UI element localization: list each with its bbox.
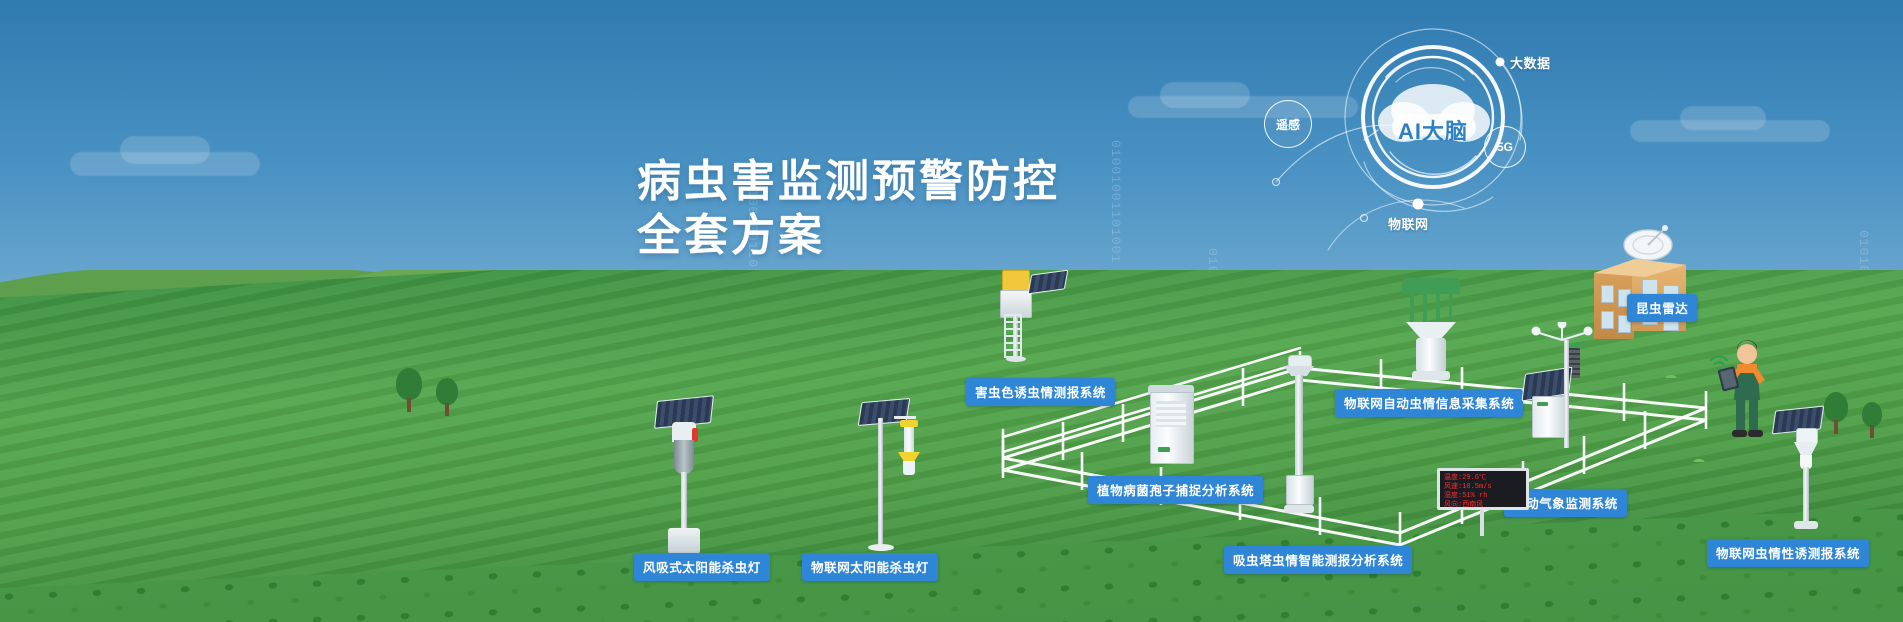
infographic-scene: 010010011010 01001001101001 010101001101… [0, 0, 1903, 622]
cloud-shape [1160, 82, 1250, 108]
cloud-shape [1680, 106, 1766, 130]
cabinet-logo [1158, 447, 1170, 452]
led-line-temperature: 温度:29.6℃ [1444, 474, 1522, 483]
device-iot-solar-lamp[interactable] [860, 400, 924, 556]
hub-node-remote-sensing-label: 遥感 [1276, 116, 1300, 133]
hub-node-5g[interactable]: 5G [1484, 126, 1526, 168]
cloud-shape [120, 136, 210, 164]
device-base [868, 544, 894, 551]
device-base [668, 528, 700, 554]
collector-body [1416, 338, 1446, 372]
solar-panel [1028, 270, 1069, 295]
ai-brain-hub: AI大脑 遥感 大数据 5G 物联网 [1268, 22, 1568, 252]
support-pole [1564, 340, 1569, 448]
pheromone-trap-funnel [1794, 442, 1818, 456]
device-base [1006, 356, 1026, 362]
lamp-tube-top [900, 420, 918, 427]
lamp-tube [904, 427, 914, 453]
label-pheromone-forecast: 物联网虫情性诱测报系统 [1707, 539, 1869, 567]
hub-node-5g-label: 5G [1497, 140, 1513, 154]
field-worker-figure [1703, 338, 1773, 448]
tree-icon [1862, 402, 1882, 438]
device-pest-color-lure[interactable] [994, 268, 1074, 364]
collector-lamp-bars [1410, 294, 1452, 324]
lamp-body [674, 440, 694, 474]
label-suction-tower: 吸虫塔虫情智能测报分析系统 [1224, 546, 1412, 574]
led-display-board[interactable]: 温度:29.6℃ 风速:10.5m/s 湿度:51% rh 风向:西南风 [1437, 468, 1529, 510]
radar-dish-icon [1614, 225, 1684, 267]
device-wind-suction-solar-lamp[interactable] [650, 398, 720, 554]
ladder [1004, 314, 1022, 358]
led-line-winddirection: 风向:西南风 [1444, 501, 1522, 510]
device-base [1412, 371, 1450, 380]
device-base [1284, 505, 1314, 513]
page-title-line-2: 全套方案 [637, 209, 1157, 263]
support-pole [1803, 467, 1809, 523]
led-line-humidity: 湿度:51% rh [1444, 492, 1522, 501]
led-screen: 温度:29.6℃ 风速:10.5m/s 湿度:51% rh 风向:西南风 [1437, 468, 1529, 510]
device-spore-capture[interactable] [1148, 385, 1204, 471]
cabinet-logo [1537, 402, 1548, 406]
label-spore-capture: 植物病菌孢子捕捉分析系统 [1088, 476, 1263, 504]
led-line-windspeed: 风速:10.5m/s [1444, 483, 1522, 492]
collection-cup [903, 461, 915, 475]
led-board-leg [1480, 510, 1484, 536]
camera-unit [1796, 428, 1818, 444]
label-insect-radar: 昆虫雷达 [1627, 294, 1697, 322]
lamp-arm [894, 416, 916, 419]
hub-node-big-data-label: 大数据 [1510, 53, 1551, 72]
label-pest-color-lure: 害虫色诱虫情测报系统 [966, 378, 1115, 406]
device-base [1794, 521, 1818, 529]
support-pole [878, 418, 883, 548]
grass-tuft [1662, 368, 1680, 378]
wifi-icon [1711, 357, 1727, 371]
anemometer-icon [1526, 322, 1598, 358]
device-pheromone-forecast[interactable] [1772, 408, 1842, 534]
tree-icon [436, 378, 458, 416]
device-suction-tower[interactable] [1278, 355, 1322, 530]
worker-illustration [1703, 338, 1773, 448]
page-title-line-1: 病虫害监测预警防控 [637, 155, 1157, 209]
support-pole [681, 472, 687, 530]
label-iot-solar-lamp: 物联网太阳能杀虫灯 [802, 553, 938, 581]
building-window [1601, 285, 1614, 303]
collector-canopy [1402, 278, 1460, 294]
hub-node-remote-sensing[interactable]: 遥感 [1264, 100, 1312, 148]
tower-collector-box [1286, 475, 1314, 505]
device-weather-station[interactable] [1540, 322, 1610, 452]
label-wind-suction-solar-lamp: 风吸式太阳能杀虫灯 [634, 553, 770, 581]
tree-icon [396, 368, 422, 412]
label-iot-pest-collector: 物联网自动虫情信息采集系统 [1335, 389, 1523, 417]
hub-node-iot-label: 物联网 [1388, 214, 1429, 233]
cabinet-vent [1156, 401, 1186, 427]
device-iot-pest-collector[interactable] [1398, 278, 1470, 388]
ai-brain-label: AI大脑 [1373, 114, 1493, 146]
grass-tuft [1690, 452, 1708, 462]
